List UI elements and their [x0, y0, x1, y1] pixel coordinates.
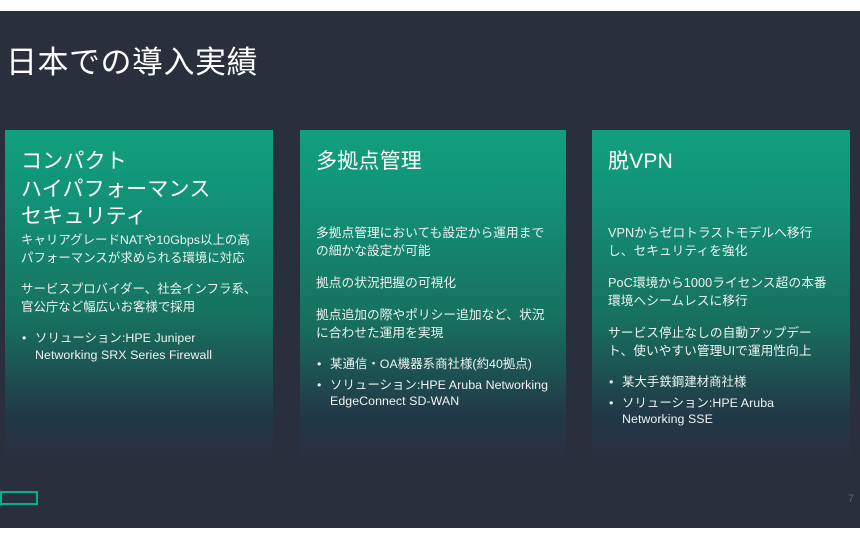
page-number: 7	[848, 493, 854, 506]
list-item-label: ソリューション:HPE Aruba Networking EdgeConnect…	[330, 378, 548, 409]
list-item: •某大手鉄鋼建材商社様	[608, 374, 834, 391]
card-paragraph: VPNからゼロトラストモデルへ移行し、セキュリティを強化	[608, 224, 834, 260]
list-item-label: 某大手鉄鋼建材商社様	[622, 375, 746, 389]
card-compact-high-performance-security[interactable]: コンパクト ハイパフォーマンス セキュリティ キャリアグレードNATや10Gbp…	[5, 130, 273, 457]
card-content: コンパクト ハイパフォーマンス セキュリティ キャリアグレードNATや10Gbp…	[5, 130, 273, 457]
hpe-logo-icon	[0, 491, 38, 505]
card-bullet-list: •ソリューション:HPE Juniper Networking SRX Seri…	[21, 330, 257, 363]
card-paragraph: 拠点の状況把握の可視化	[316, 274, 550, 292]
card-multi-site-management[interactable]: 多拠点管理 多拠点管理においても設定から運用までの細かな設定が可能 拠点の状況把…	[300, 130, 566, 457]
card-heading-line: コンパクト	[21, 148, 257, 176]
bullet-icon: •	[22, 330, 26, 347]
list-item-label: 某通信・OA機器系商社様(約40拠点)	[330, 357, 532, 371]
slide-root: 日本での導入実績 コンパクト ハイパフォーマンス セキュリティ キャリアグレード…	[0, 0, 860, 538]
card-paragraph: サービスプロバイダー、社会インフラ系、官公庁など幅広いお客様で採用	[21, 281, 257, 316]
list-item-label: ソリューション:HPE Aruba Networking SSE	[622, 396, 774, 427]
card-paragraph: 拠点追加の際やポリシー追加など、状況に合わせた運用を実現	[316, 306, 550, 342]
page-title: 日本での導入実績	[6, 44, 258, 82]
slide-canvas: 日本での導入実績 コンパクト ハイパフォーマンス セキュリティ キャリアグレード…	[0, 11, 860, 528]
card-heading-line: セキュリティ	[21, 203, 257, 231]
card-vpn-free[interactable]: 脱VPN VPNからゼロトラストモデルへ移行し、セキュリティを強化 PoC環境か…	[592, 130, 850, 457]
card-paragraph: サービス停止なしの自動アップデート、使いやすい管理UIで運用性向上	[608, 324, 834, 360]
list-item: •ソリューション:HPE Juniper Networking SRX Seri…	[21, 330, 257, 363]
card-content: 多拠点管理 多拠点管理においても設定から運用までの細かな設定が可能 拠点の状況把…	[300, 130, 566, 457]
card-bullet-list: •某通信・OA機器系商社様(約40拠点) •ソリューション:HPE Aruba …	[316, 356, 550, 410]
card-paragraph: PoC環境から1000ライセンス超の本番環境へシームレスに移行	[608, 274, 834, 310]
bullet-icon: •	[317, 377, 321, 394]
bullet-icon: •	[609, 374, 613, 391]
cards-container: コンパクト ハイパフォーマンス セキュリティ キャリアグレードNATや10Gbp…	[0, 130, 860, 460]
card-heading-line: ハイパフォーマンス	[21, 176, 257, 204]
list-item: •某通信・OA機器系商社様(約40拠点)	[316, 356, 550, 373]
bullet-icon: •	[317, 356, 321, 373]
bullet-icon: •	[609, 395, 613, 412]
card-heading: コンパクト ハイパフォーマンス セキュリティ	[21, 148, 257, 232]
card-paragraph: キャリアグレードNATや10Gbps以上の高パフォーマンスが求められる環境に対応	[21, 232, 257, 267]
list-item: •ソリューション:HPE Aruba Networking SSE	[608, 395, 834, 428]
card-paragraph: 多拠点管理においても設定から運用までの細かな設定が可能	[316, 224, 550, 260]
list-item-label: ソリューション:HPE Juniper Networking SRX Serie…	[35, 331, 212, 362]
card-content: 脱VPN VPNからゼロトラストモデルへ移行し、セキュリティを強化 PoC環境か…	[592, 130, 850, 457]
list-item: •ソリューション:HPE Aruba Networking EdgeConnec…	[316, 377, 550, 410]
card-heading: 脱VPN	[608, 148, 834, 224]
card-bullet-list: •某大手鉄鋼建材商社様 •ソリューション:HPE Aruba Networkin…	[608, 374, 834, 428]
card-heading-line: 多拠点管理	[316, 148, 550, 176]
card-heading-line: 脱VPN	[608, 148, 834, 176]
card-heading: 多拠点管理	[316, 148, 550, 224]
